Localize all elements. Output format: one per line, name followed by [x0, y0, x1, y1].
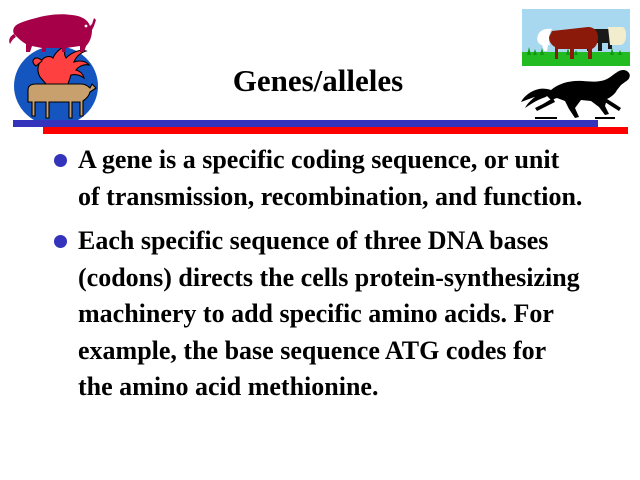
- page-title: Genes/alleles: [108, 62, 528, 100]
- bullet-circle-icon: [54, 154, 67, 167]
- slide-canvas: Genes/alleles: [0, 0, 640, 480]
- slide-header: Genes/alleles: [0, 0, 640, 140]
- livestock-logo: [6, 4, 106, 128]
- bullet-text: A gene is a specific coding sequence, or…: [78, 142, 586, 215]
- slide-body: A gene is a specific coding sequence, or…: [0, 142, 640, 406]
- galloping-horse-silhouette: [521, 68, 633, 126]
- divider-bar-red: [43, 127, 628, 134]
- divider-bar-blue: [13, 120, 598, 127]
- pig-icon: [9, 14, 96, 52]
- list-item: A gene is a specific coding sequence, or…: [0, 142, 640, 215]
- bullet-circle-icon: [54, 235, 67, 248]
- list-item: Each specific sequence of three DNA base…: [0, 223, 640, 406]
- cattle-in-pasture-photo: [522, 9, 630, 66]
- bullet-text: Each specific sequence of three DNA base…: [78, 223, 586, 406]
